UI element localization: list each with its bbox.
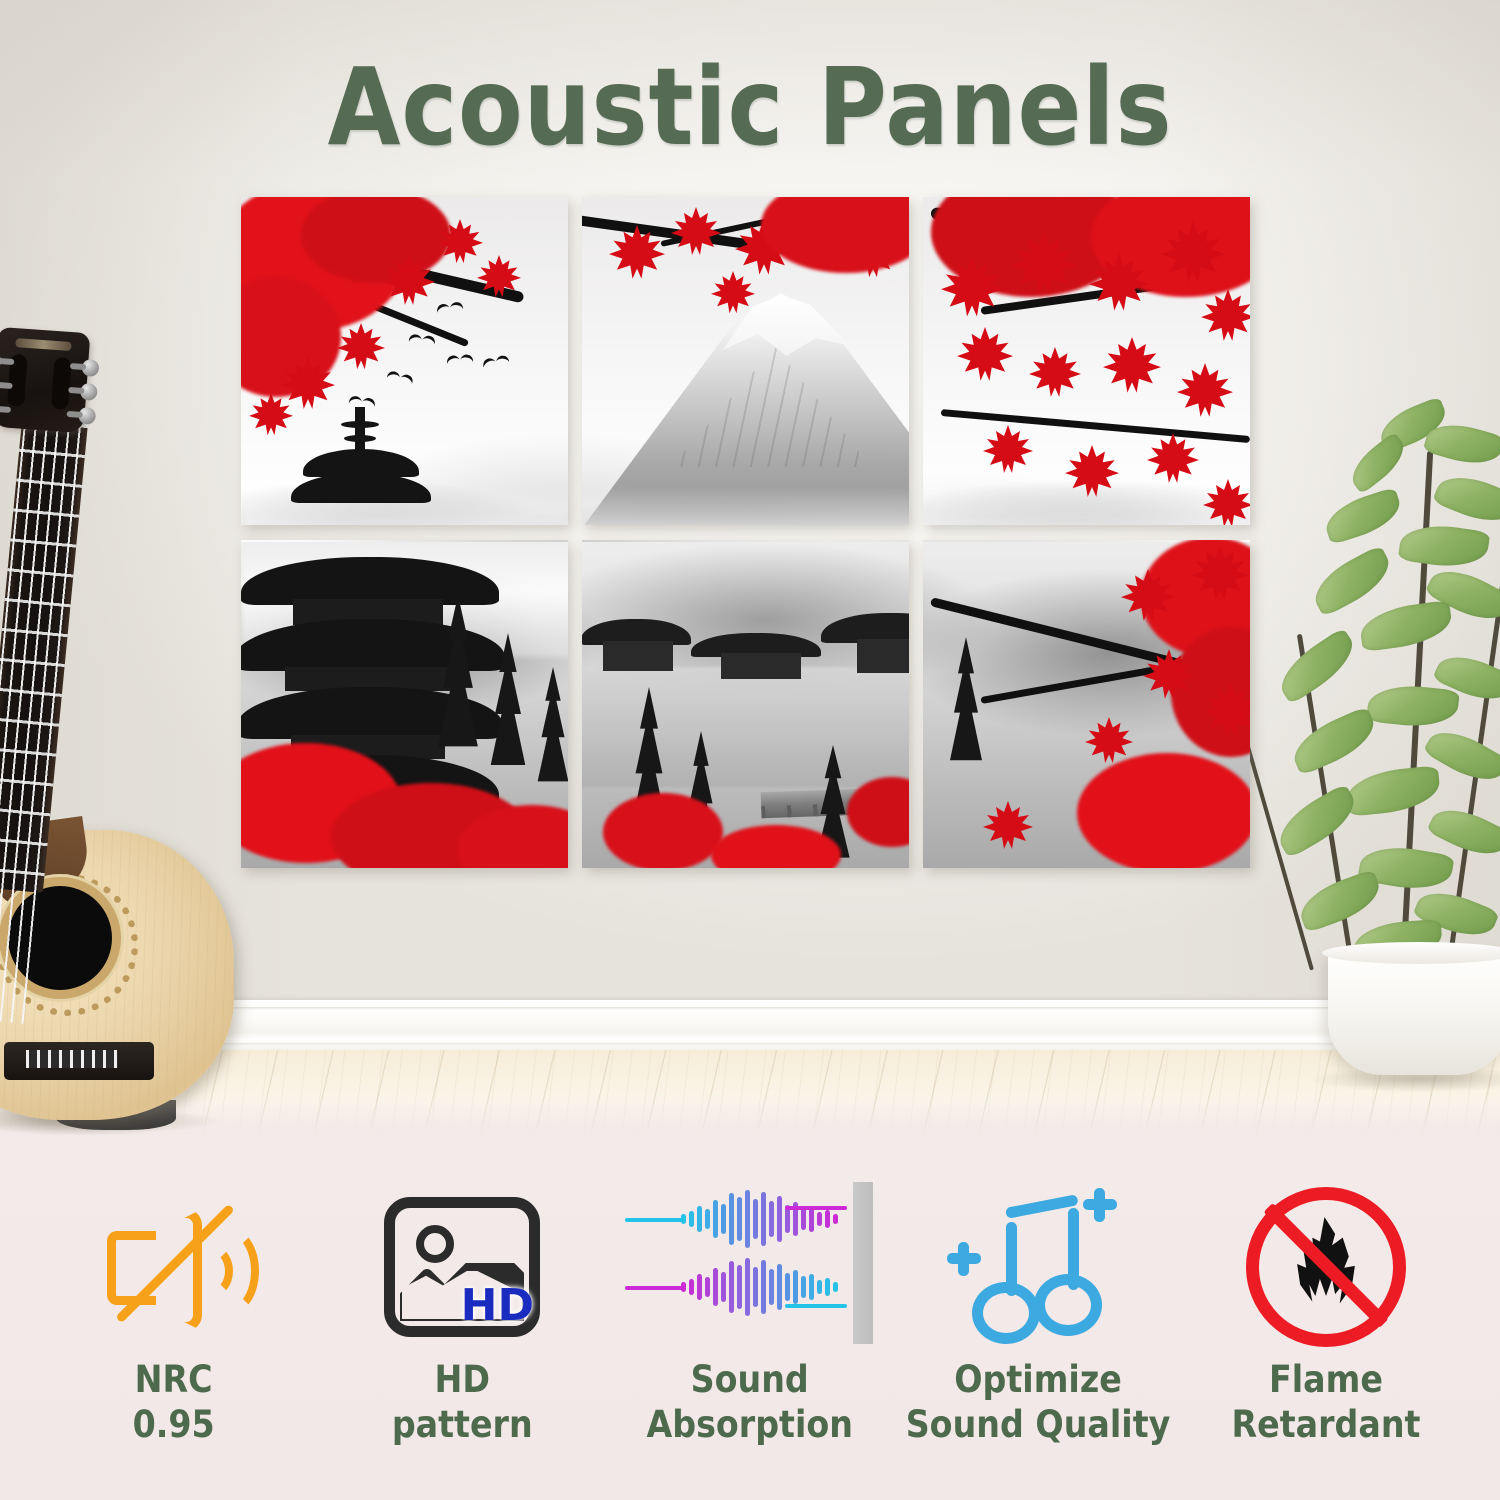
feature-nrc: NRC 0.95: [34, 1183, 314, 1447]
feature-label-line2: Retardant: [1232, 1402, 1421, 1447]
incoming-wave-line: [625, 1218, 683, 1222]
floor-fade-overlay: [0, 1095, 1500, 1135]
feature-label-line2: Sound Quality: [906, 1402, 1171, 1447]
temple-village: [582, 597, 909, 707]
plant-pot: [1328, 950, 1500, 1075]
feature-label-line2: Absorption: [647, 1402, 853, 1447]
village-building: [721, 653, 801, 679]
feature-label-line1: Sound: [647, 1357, 853, 1402]
waveform-bar: [681, 1214, 686, 1224]
product-listing-image: Acoustic Panels: [0, 0, 1500, 1500]
potted-plant: [1250, 330, 1500, 1070]
waveform-bar: [817, 1212, 822, 1226]
acoustic-guitar: [0, 330, 260, 1090]
waveform-bar: [697, 1206, 702, 1232]
peg-shaft: [68, 387, 84, 394]
plant-leaf: [1270, 783, 1363, 859]
plant-leaf: [1271, 627, 1362, 705]
sound-absorption-waveform-icon: [625, 1182, 875, 1352]
plant-leaf: [1306, 545, 1398, 618]
waveform-bar: [801, 1276, 806, 1298]
feature-icon-slot: [610, 1183, 890, 1351]
feature-label-line2: 0.95: [133, 1402, 215, 1447]
note-head: [1034, 1274, 1102, 1336]
peg-shaft: [0, 382, 13, 389]
plant-leaf: [1286, 706, 1382, 777]
art-panel-top-right[interactable]: [923, 197, 1250, 525]
waveform-bar: [809, 1274, 814, 1300]
plant-leaf: [1398, 520, 1491, 572]
peg-shaft: [66, 411, 82, 418]
waveform-bar: [729, 1193, 734, 1245]
headstock-logo: [15, 338, 71, 351]
feature-icon-slot: [898, 1183, 1178, 1351]
waveform-bar: [697, 1274, 702, 1300]
waveform-bar: [681, 1282, 686, 1292]
music-note-sparkle-icon: [954, 1192, 1122, 1342]
sparkle-plus-icon: [947, 1253, 981, 1264]
waveform-bar: [833, 1214, 838, 1224]
outgoing-wave-line: [785, 1304, 847, 1308]
waveform-bar: [761, 1192, 766, 1246]
feature-label: NRC 0.95: [133, 1357, 215, 1447]
waveform-bar: [753, 1199, 758, 1239]
feature-label-line1: NRC: [133, 1357, 215, 1402]
feature-label-line1: HD: [392, 1357, 533, 1402]
waveform-bar: [721, 1204, 726, 1234]
feature-sound-absorption: Sound Absorption: [610, 1183, 890, 1447]
waveform-top: [681, 1188, 838, 1250]
muted-speaker-icon: [99, 1201, 249, 1333]
sun-dot-icon: [416, 1225, 454, 1263]
plant-stem: [1244, 739, 1314, 971]
peg-shaft: [0, 406, 11, 413]
tuner-slot-right: [51, 357, 72, 410]
sparkle-plus-icon: [1083, 1199, 1117, 1210]
flying-bird: [408, 334, 435, 348]
waveform-bar: [753, 1267, 758, 1307]
hd-image-icon: HD: [384, 1197, 540, 1337]
feature-icon-slot: [34, 1183, 314, 1351]
waveform-bar: [729, 1261, 734, 1313]
page-title: Acoustic Panels: [90, 46, 1410, 170]
guitar-saddle: [26, 1050, 118, 1068]
waveform-bar: [705, 1277, 710, 1297]
plant-pot-rim: [1322, 942, 1500, 964]
wall-art-grid: [241, 197, 1250, 868]
feature-label-line1: Optimize: [906, 1357, 1171, 1402]
village-building: [603, 641, 673, 671]
flying-bird: [447, 354, 474, 367]
waveform-bar: [833, 1282, 838, 1292]
art-panel-top-left[interactable]: [241, 197, 568, 525]
peg-shaft: [0, 358, 14, 365]
no-flame-icon: [1246, 1187, 1406, 1347]
outgoing-wave-line: [785, 1206, 847, 1210]
waveform-bar: [705, 1209, 710, 1229]
waveform-bar: [713, 1268, 718, 1306]
feature-hd-pattern: HD HD pattern: [322, 1183, 602, 1447]
plant-leaf: [1344, 765, 1442, 817]
feature-label: Sound Absorption: [647, 1357, 853, 1447]
feature-label-line1: Flame: [1232, 1357, 1421, 1402]
waveform-bar: [761, 1260, 766, 1314]
sound-wave-large: [199, 1227, 259, 1315]
art-panel-top-center[interactable]: [582, 197, 909, 525]
feature-optimize-sound: Optimize Sound Quality: [898, 1183, 1178, 1447]
plant-leaf: [1358, 600, 1455, 652]
waveform-bar: [745, 1258, 750, 1316]
red-foliage: [1077, 753, 1250, 868]
pagoda-roof: [291, 473, 431, 503]
waveform-bar: [769, 1201, 774, 1237]
village-building: [857, 639, 909, 673]
small-pagoda: [291, 407, 431, 517]
feature-bar: NRC 0.95 HD HD pattern: [0, 1135, 1500, 1500]
note-head: [972, 1282, 1040, 1344]
plant-leaf: [1432, 466, 1500, 531]
waveform-bar: [801, 1208, 806, 1230]
incoming-wave-line: [625, 1286, 683, 1290]
peg-shaft: [70, 363, 86, 370]
waveform-bar: [689, 1279, 694, 1295]
plant-leaf: [1320, 487, 1405, 545]
waveform-bar: [793, 1270, 798, 1304]
waveform-bar: [777, 1196, 782, 1242]
plant-leaf: [1366, 681, 1460, 730]
waveform-bar: [745, 1190, 750, 1248]
art-panel-bottom-right[interactable]: [923, 540, 1250, 868]
feature-label-line2: pattern: [392, 1402, 533, 1447]
feature-icon-slot: [1186, 1183, 1466, 1351]
room-scene: Acoustic Panels: [0, 0, 1500, 1135]
guitar-headstock: [0, 327, 90, 433]
waveform-bar: [825, 1210, 830, 1228]
mist-band: [923, 487, 1250, 525]
flying-bird: [436, 301, 463, 316]
waveform-bar: [785, 1273, 790, 1301]
waveform-bar: [737, 1265, 742, 1309]
feature-label: HD pattern: [392, 1357, 533, 1447]
art-panel-bottom-center[interactable]: [582, 540, 909, 868]
waveform-bar: [689, 1211, 694, 1227]
feature-icon-slot: HD: [322, 1183, 602, 1351]
red-foliage: [603, 793, 723, 868]
waveform-bar: [713, 1200, 718, 1238]
waveform-bar: [817, 1280, 822, 1294]
feature-label: Optimize Sound Quality: [906, 1357, 1171, 1447]
waveform-bar: [769, 1269, 774, 1305]
waveform-bar: [825, 1278, 830, 1296]
art-panel-bottom-left[interactable]: [241, 540, 568, 868]
pagoda-spire: [355, 407, 365, 451]
waveform-bottom: [681, 1256, 838, 1318]
waveform-bar: [777, 1264, 782, 1310]
hd-badge-text: HD: [461, 1280, 534, 1331]
mist-band: [582, 487, 909, 525]
acoustic-panel-bar: [853, 1182, 873, 1344]
feature-label: Flame Retardant: [1232, 1357, 1421, 1447]
pagoda-roof: [241, 557, 499, 605]
feature-flame-retardant: Flame Retardant: [1186, 1183, 1466, 1447]
waveform-bar: [737, 1197, 742, 1241]
waveform-bar: [721, 1272, 726, 1302]
